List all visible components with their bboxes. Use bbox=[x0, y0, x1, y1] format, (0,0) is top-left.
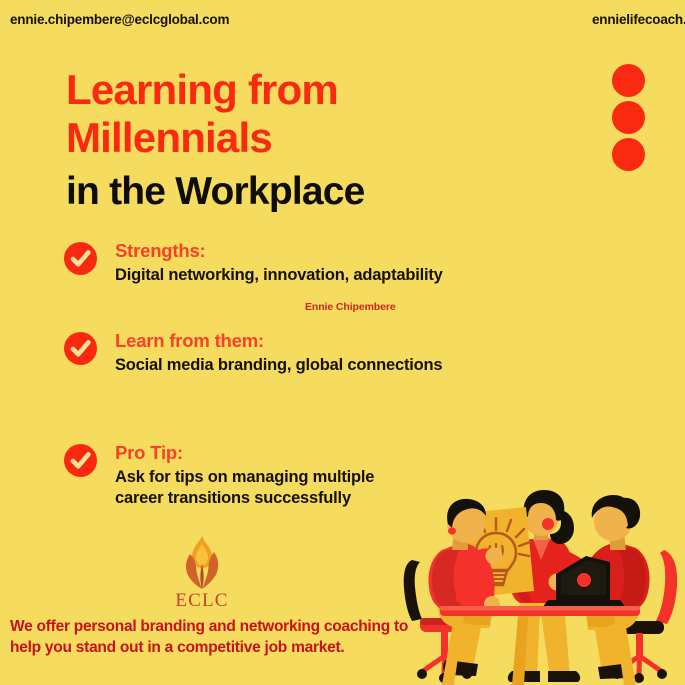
author-attribution: Ennie Chipembere bbox=[305, 301, 396, 313]
contact-email: ennie.chipembere@eclcglobal.com bbox=[10, 12, 229, 27]
bullet-title: Strengths: bbox=[115, 240, 495, 262]
red-dot-icon bbox=[612, 138, 645, 171]
contact-bar: ennie.chipembere@eclcglobal.com ennielif… bbox=[0, 12, 685, 34]
poster-canvas: ennie.chipembere@eclcglobal.com ennielif… bbox=[0, 0, 685, 685]
bullet-title: Learn from them: bbox=[115, 330, 495, 352]
footer-cta-text: We offer personal branding and networkin… bbox=[10, 616, 410, 658]
bullet-description: Ask for tips on managing multiple career… bbox=[115, 467, 415, 509]
logo-wordmark: ECLC bbox=[163, 590, 241, 612]
flame-hand-icon bbox=[169, 534, 235, 590]
check-circle-icon bbox=[64, 444, 97, 477]
red-dot-icon bbox=[612, 64, 645, 97]
bullet-title: Pro Tip: bbox=[115, 442, 415, 464]
red-dot-icon bbox=[612, 101, 645, 134]
bullet-description: Social media branding, global connection… bbox=[115, 355, 495, 376]
decorative-dots bbox=[612, 64, 648, 174]
team-meeting-illustration bbox=[398, 488, 685, 685]
check-circle-icon bbox=[64, 242, 97, 275]
contact-website: ennielifecoach.co bbox=[592, 12, 685, 27]
bullet-description: Digital networking, innovation, adaptabi… bbox=[115, 265, 495, 286]
check-circle-icon bbox=[64, 332, 97, 365]
title-line-1: Learning from bbox=[66, 66, 486, 114]
title-line-3: in the Workplace bbox=[66, 169, 486, 215]
eclc-logo: ECLC bbox=[163, 534, 241, 610]
title-line-2: Millennials bbox=[66, 114, 486, 162]
page-title: Learning from Millennials in the Workpla… bbox=[66, 66, 486, 215]
